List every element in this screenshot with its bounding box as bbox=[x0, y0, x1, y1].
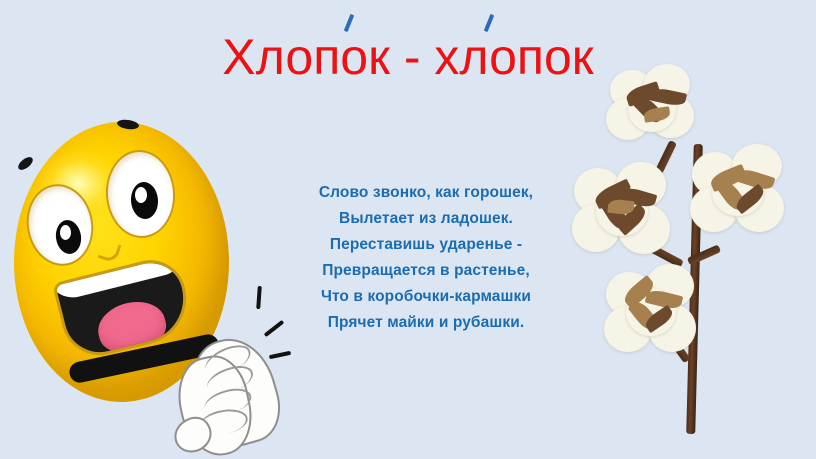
cotton-boll bbox=[690, 144, 788, 236]
poem-line: Что в коробочки-кармашки bbox=[296, 284, 556, 310]
cotton-plant-image bbox=[570, 62, 810, 452]
poem-line: Вылетает из ладошек. bbox=[296, 206, 556, 232]
cotton-boll bbox=[606, 64, 698, 148]
smiley-eyebrow-left bbox=[16, 155, 35, 173]
poem-text-block: Слово звонко, как горошек, Вылетает из л… bbox=[296, 180, 556, 336]
cotton-boll bbox=[572, 160, 674, 258]
poem-line: Прячет майки и рубашки. bbox=[296, 310, 556, 336]
clapping-hands-icon bbox=[178, 334, 282, 459]
page-title-text: Хлопок - хлопок bbox=[222, 29, 593, 85]
poem-line: Переставишь ударенье - bbox=[296, 232, 556, 258]
cotton-boll bbox=[604, 262, 700, 358]
clap-motion-line bbox=[256, 286, 262, 309]
clapping-smiley-icon bbox=[14, 112, 294, 412]
poem-line: Слово звонко, как горошек, bbox=[296, 180, 556, 206]
page-title: Хлопок - хлопок bbox=[222, 30, 593, 84]
poem-line: Превращается в растенье, bbox=[296, 258, 556, 284]
slide-canvas: Хлопок - хлопок Слово звонко, как гороше… bbox=[0, 0, 816, 459]
smiley-eye-glint-left bbox=[60, 225, 71, 240]
smiley-eye-glint-right bbox=[135, 187, 147, 203]
